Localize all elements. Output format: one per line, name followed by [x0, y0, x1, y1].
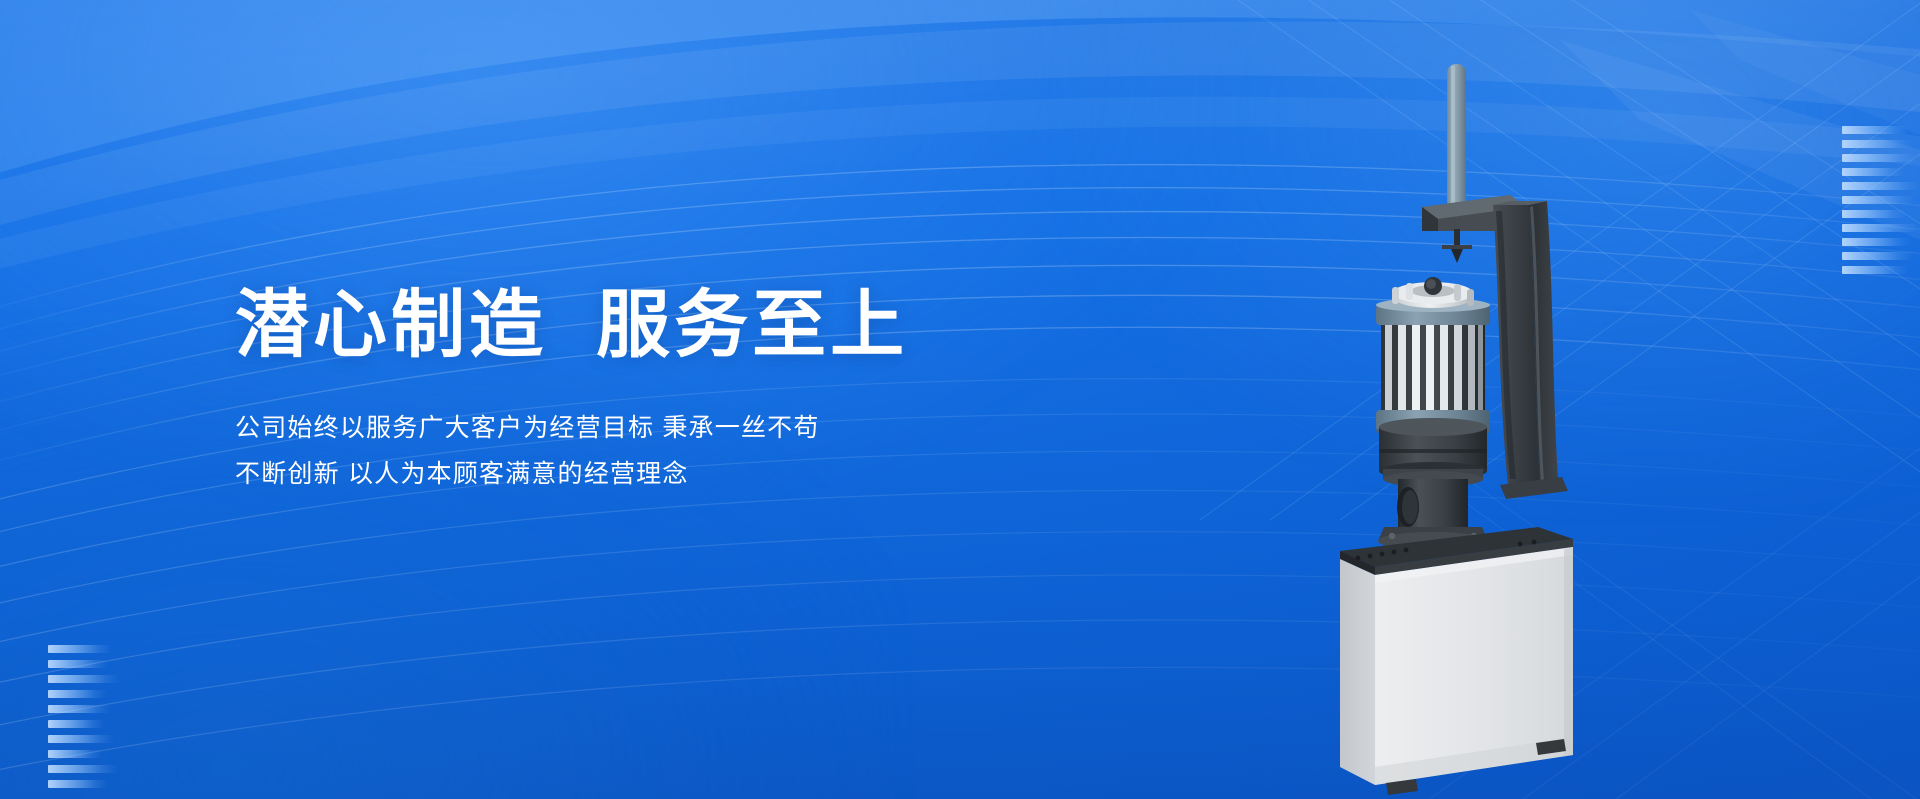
decor-bar: [1842, 252, 1914, 260]
vertical-guide-rod: [1447, 64, 1466, 211]
support-column: [1493, 201, 1568, 499]
decor-bar: [1842, 140, 1912, 148]
decor-bar: [1842, 168, 1904, 176]
top-cap-plate: [1392, 277, 1474, 308]
decor-bar: [1842, 266, 1908, 274]
decor-bar: [48, 720, 104, 728]
right-edge-bar-group: [1842, 126, 1920, 280]
decor-bar: [1842, 154, 1916, 162]
hero-subtitle-line-2: 不断创新 以人为本顾客满意的经营理念: [235, 451, 1055, 497]
decor-bar: [48, 780, 108, 788]
cylinder-fins: [1385, 320, 1483, 415]
decor-bar: [48, 705, 110, 713]
decor-bar: [48, 645, 112, 653]
bottom-left-bar-group: [48, 645, 120, 795]
industrial-test-machine: [1330, 55, 1630, 799]
page-title: 潜心制造 服务至上: [235, 285, 1055, 365]
drill-spindle-tip: [1442, 229, 1472, 263]
decor-bar: [48, 660, 108, 668]
decor-bar: [48, 675, 120, 683]
hero-banner: 潜心制造 服务至上 公司始终以服务广大客户为经营目标 秉承一丝不苟 不断创新 以…: [0, 0, 1920, 799]
decor-bar: [1842, 224, 1918, 232]
hero-subtitle-line-1: 公司始终以服务广大客户为经营目标 秉承一丝不苟: [235, 405, 1055, 451]
hero-copy-block: 潜心制造 服务至上 公司始终以服务广大客户为经营目标 秉承一丝不苟 不断创新 以…: [235, 285, 1055, 497]
decor-bar: [1842, 126, 1908, 134]
hero-subtitle: 公司始终以服务广大客户为经营目标 秉承一丝不苟 不断创新 以人为本顾客满意的经营…: [235, 365, 1055, 498]
decor-bar: [48, 690, 106, 698]
decor-bar: [1842, 182, 1920, 190]
decor-bar: [1842, 210, 1906, 218]
decor-bar: [48, 735, 114, 743]
decor-bar: [48, 765, 118, 773]
decor-bar: [1842, 196, 1914, 204]
finned-cylinder-head: [1376, 277, 1490, 438]
decor-bar: [48, 750, 102, 758]
decor-bar: [1842, 238, 1910, 246]
